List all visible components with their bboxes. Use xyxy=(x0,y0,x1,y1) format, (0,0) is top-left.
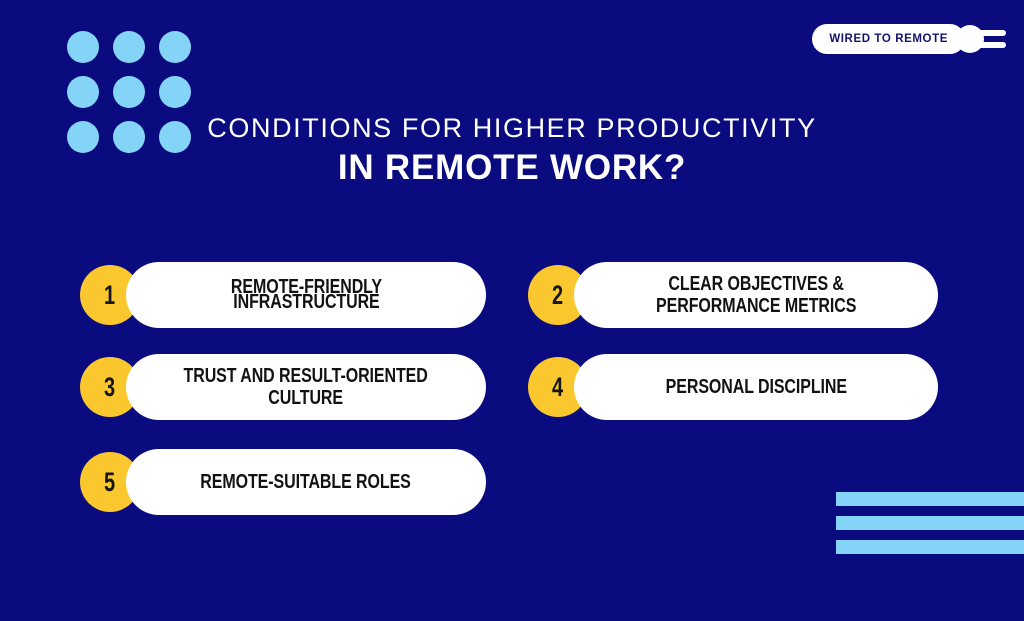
condition-pill: TRUST AND RESULT-ORIENTED CULTURE xyxy=(126,354,486,420)
brand-name-pill: WIRED TO REMOTE xyxy=(812,24,965,54)
stripe-bar xyxy=(836,492,1024,506)
brand-logo[interactable]: WIRED TO REMOTE xyxy=(812,22,1008,56)
condition-pill: REMOTE-SUITABLE ROLES xyxy=(126,449,486,515)
condition-number: 1 xyxy=(104,282,115,309)
infographic-canvas: WIRED TO REMOTE CONDITIONS FOR HIGHER PR… xyxy=(0,0,1024,621)
condition-label: TRUST AND RESULT-ORIENTED CULTURE xyxy=(184,365,428,409)
condition-label: CLEAR OBJECTIVES & PERFORMANCE METRICS xyxy=(656,273,856,317)
condition-number: 4 xyxy=(552,374,563,401)
brand-name-label: WIRED TO REMOTE xyxy=(829,33,948,45)
stripe-bar xyxy=(836,516,1024,530)
condition-label: PERSONAL DISCIPLINE xyxy=(665,376,846,398)
stripe-bars-decoration xyxy=(836,492,1024,564)
condition-pill: PERSONAL DISCIPLINE xyxy=(574,354,938,420)
condition-number: 5 xyxy=(104,469,115,496)
plug-prong-top xyxy=(978,30,1006,36)
condition-pill: CLEAR OBJECTIVES & PERFORMANCE METRICS xyxy=(574,262,938,328)
condition-label: REMOTE-SUITABLE ROLES xyxy=(201,471,411,493)
condition-pill: REMOTE-FRIENDLY INFRASTRUCTURE xyxy=(126,262,486,328)
stripe-bar xyxy=(836,540,1024,554)
condition-number: 3 xyxy=(104,374,115,401)
condition-number: 2 xyxy=(552,282,563,309)
condition-label: REMOTE-FRIENDLY INFRASTRUCTURE xyxy=(230,280,381,310)
plug-prong-bottom xyxy=(978,42,1006,48)
